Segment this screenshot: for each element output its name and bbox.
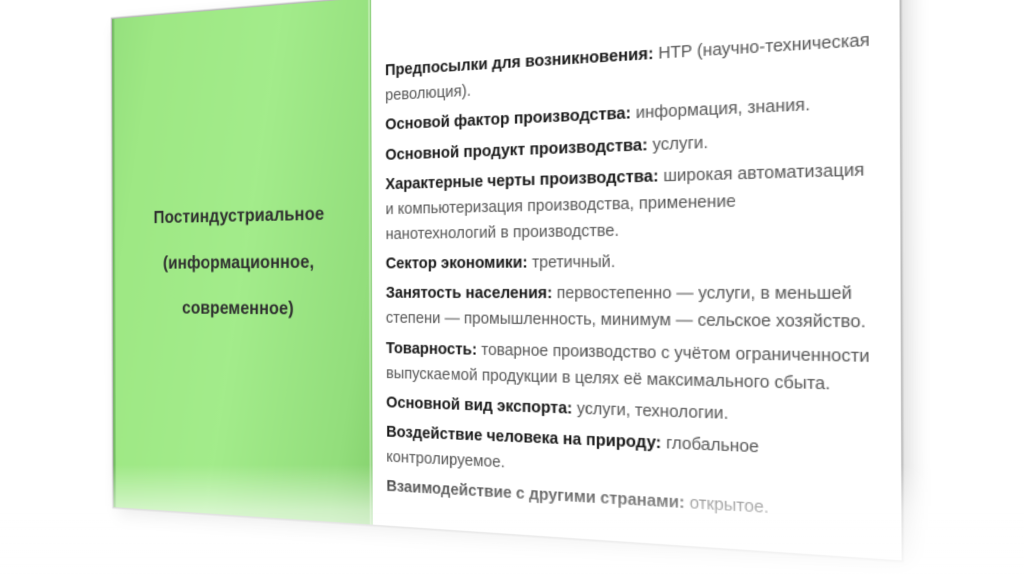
spec-value: третичный. [532,253,615,272]
spec-row: Основой фактор производства: информация,… [385,89,871,138]
spec-key: Воздействие человека на природу: [386,424,661,453]
label-title-line-2: (информационное, [154,238,325,286]
slide-card-inner: Постиндустриальное (информационное, совр… [111,0,903,562]
spec-value: НТР (научно-техническая революция). [385,31,870,105]
spec-key: Товарность: [386,340,477,359]
spec-key: Характерные черты производства: [385,167,658,193]
slide-card: Постиндустриальное (информационное, совр… [111,0,903,562]
label-panel-title: Постиндустриальное (информационное, совр… [145,190,334,333]
spec-value: первостепенно — услуги, в меньшей степен… [386,284,866,332]
reflection-spec-row: Взаимодействие с другими странами: откры… [387,555,874,574]
spec-key: Занятость населения: [386,285,553,303]
spec-key: Сектор экономики: [386,254,528,273]
spec-value: товарное производство с учётом ограничен… [386,341,870,394]
spec-row: Основной вид экспорта: услуги, технологи… [386,391,873,434]
spec-key: Взаимодействие с другими странами: [386,478,684,513]
spec-key: Основой фактор производства: [385,105,631,134]
spec-value: открытое. [689,495,768,519]
spec-row: Воздействие человека на природу: глобаль… [386,420,873,495]
label-panel: Постиндустриальное (информационное, совр… [112,0,373,525]
spec-key: Основной продукт производства: [385,136,647,164]
spec-row: Предпосылки для возникновения: НТР (науч… [385,27,871,109]
reflection-spec-key: Взаимодействие с другими странами: [387,560,685,574]
spec-row: Взаимодействие с другими странами: откры… [386,475,873,529]
content-panel: Предпосылки для возникновения: НТР (науч… [371,0,902,560]
label-title-line-3: современное) [154,285,325,333]
spec-key: Основной вид экспорта: [386,394,572,418]
spec-value: глобальное контролируемое. [386,434,759,472]
spec-row: Товарность: товарное производство с учёт… [386,336,873,400]
spec-value: услуги, технологии. [577,400,729,424]
slide-stage: Постиндустриальное (информационное, совр… [0,0,1024,574]
spec-row: Основной продукт производства: услуги. [385,123,871,168]
spec-row: Сектор экономики: третичный. [386,247,872,277]
label-title-line-1: Постиндустриальное [153,190,324,240]
spec-row: Занятость населения: первостепенно — усл… [386,281,873,338]
spec-key: Предпосылки для возникновения: [385,45,654,80]
spec-value: информация, знания. [636,96,810,123]
spec-row: Характерные черты производства: широкая … [385,157,872,248]
spec-value: услуги. [652,133,708,154]
spec-value: широкая автоматизация и компьютеризация … [385,160,864,243]
